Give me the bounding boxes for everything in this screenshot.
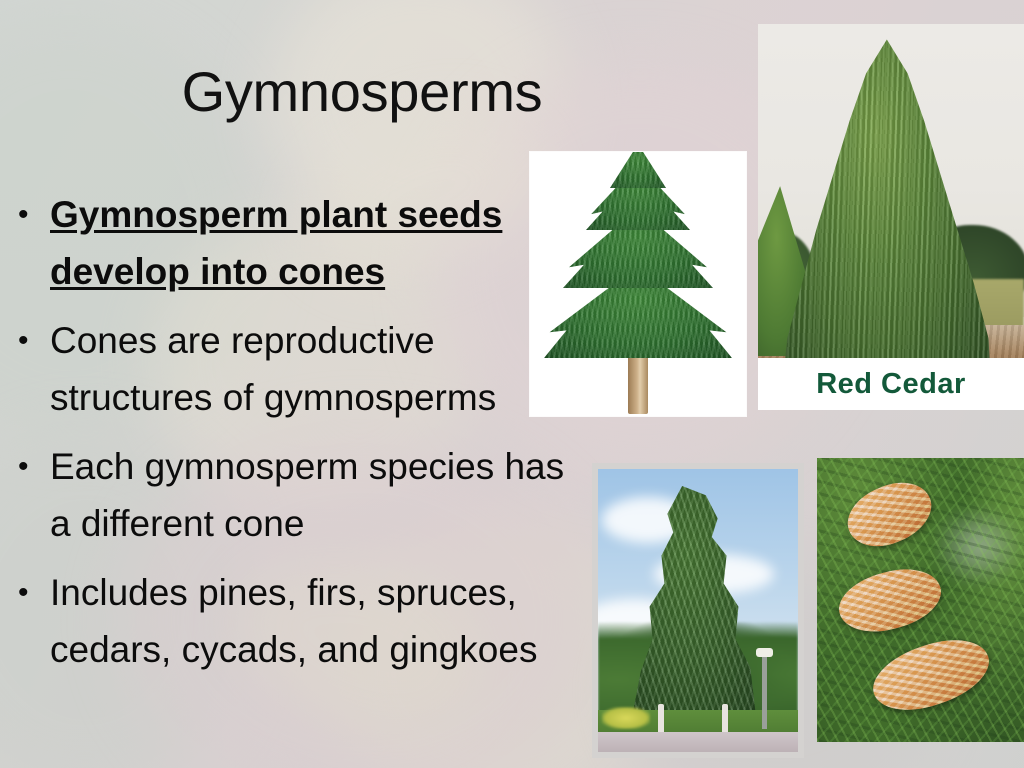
tree-foliage-tier xyxy=(610,152,666,188)
pine-cones-image xyxy=(817,458,1024,742)
list-item: Includes pines, firs, spruces, cedars, c… xyxy=(10,564,580,678)
bullet-list: Gymnosperm plant seeds develop into cone… xyxy=(10,186,580,690)
clipart-illustration xyxy=(530,152,746,416)
conifer-clipart-image xyxy=(530,152,746,416)
ginkgo-tree-image xyxy=(598,469,798,752)
photo-flower-bed xyxy=(602,707,650,730)
photo-path xyxy=(598,732,798,752)
image-caption: Red Cedar xyxy=(758,358,1024,410)
presentation-slide: Gymnosperms Gymnosperm plant seeds devel… xyxy=(0,0,1024,768)
photo-bollard xyxy=(658,704,664,735)
red-cedar-image: Red Cedar xyxy=(758,24,1024,410)
list-item: Each gymnosperm species has a different … xyxy=(10,438,580,552)
photo-bollard xyxy=(722,704,728,735)
list-item: Cones are reproductive structures of gym… xyxy=(10,312,580,426)
photo-lamp-post xyxy=(762,656,767,730)
list-item: Gymnosperm plant seeds develop into cone… xyxy=(10,186,580,300)
